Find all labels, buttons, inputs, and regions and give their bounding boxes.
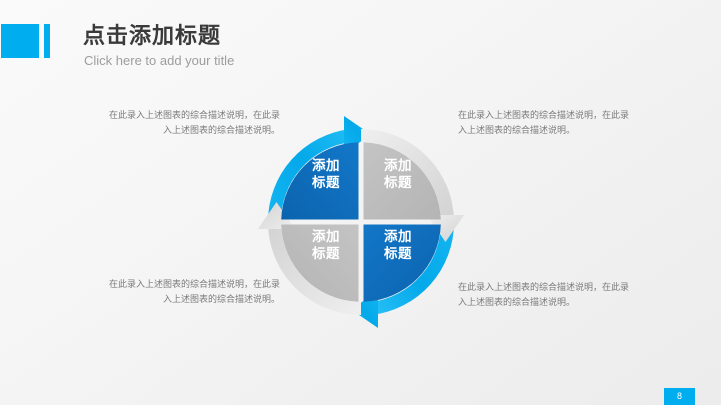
cycle-diagram-svg bbox=[258, 100, 464, 345]
page-title[interactable]: 点击添加标题 bbox=[83, 22, 221, 50]
quadrant-label-bottom-right[interactable]: 添加 标题 bbox=[362, 228, 434, 262]
description-top-right[interactable]: 在此录入上述图表的综合描述说明，在此录入上述图表的综合描述说明。 bbox=[458, 108, 630, 138]
four-quadrant-cycle-diagram: 添加 标题 添加 标题 添加 标题 添加 标题 bbox=[258, 100, 464, 345]
quadrant-label-top-left[interactable]: 添加 标题 bbox=[290, 157, 362, 191]
slide-canvas: 点击添加标题 Click here to add your title bbox=[0, 0, 721, 405]
quadrant-label-bottom-left-line1: 添加 bbox=[290, 228, 362, 245]
quadrant-label-top-right-line1: 添加 bbox=[362, 157, 434, 174]
description-bottom-left[interactable]: 在此录入上述图表的综合描述说明，在此录入上述图表的综合描述说明。 bbox=[108, 277, 280, 307]
quadrant-label-top-right[interactable]: 添加 标题 bbox=[362, 157, 434, 191]
page-subtitle[interactable]: Click here to add your title bbox=[84, 52, 234, 69]
quadrant-label-top-right-line2: 标题 bbox=[362, 174, 434, 191]
quadrant-label-bottom-right-line1: 添加 bbox=[362, 228, 434, 245]
quadrant-label-top-left-line2: 标题 bbox=[290, 174, 362, 191]
quadrant-label-bottom-left[interactable]: 添加 标题 bbox=[290, 228, 362, 262]
title-accent-bar-icon bbox=[44, 24, 50, 58]
quadrant-label-top-left-line1: 添加 bbox=[290, 157, 362, 174]
quadrant-label-bottom-right-line2: 标题 bbox=[362, 245, 434, 262]
description-bottom-right[interactable]: 在此录入上述图表的综合描述说明，在此录入上述图表的综合描述说明。 bbox=[458, 280, 630, 310]
page-number-badge: 8 bbox=[664, 388, 695, 405]
title-accent-square-icon bbox=[1, 24, 39, 58]
quadrant-label-bottom-left-line2: 标题 bbox=[290, 245, 362, 262]
description-top-left[interactable]: 在此录入上述图表的综合描述说明，在此录入上述图表的综合描述说明。 bbox=[108, 108, 280, 138]
slide-title-block: 点击添加标题 Click here to add your title bbox=[0, 0, 721, 90]
